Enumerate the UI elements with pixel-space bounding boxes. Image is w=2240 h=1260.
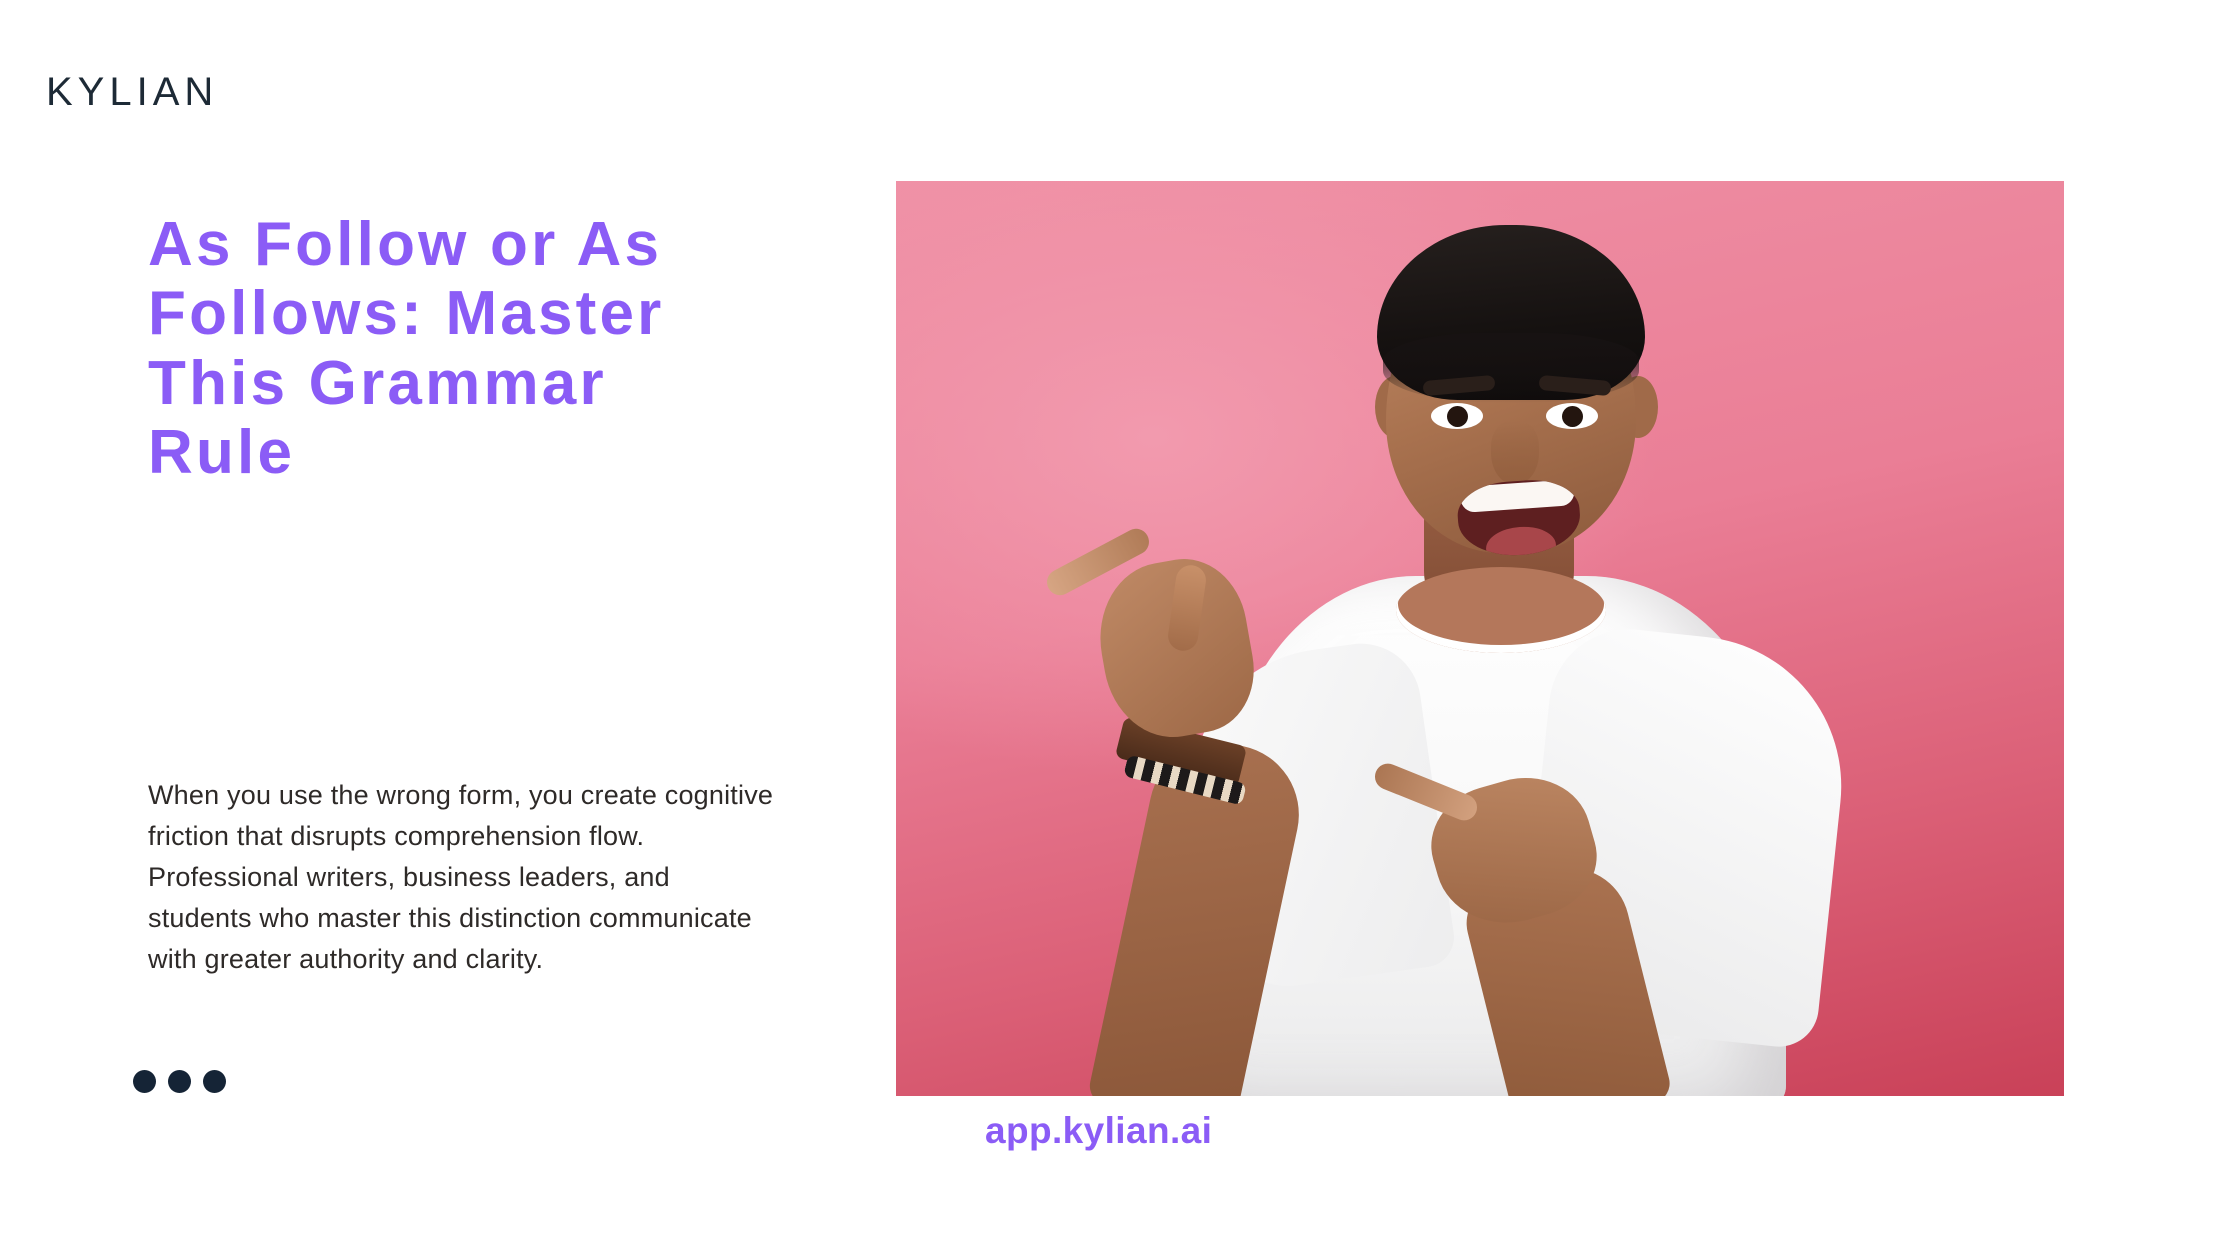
nose	[1491, 421, 1539, 485]
slide-canvas: KYLIAN As Follow or As Follows: Master T…	[0, 0, 2240, 1260]
left-content-column: As Follow or As Follows: Master This Gra…	[148, 210, 788, 488]
photo-subject	[896, 181, 2064, 1096]
dot-1	[133, 1070, 156, 1093]
page-title: As Follow or As Follows: Master This Gra…	[148, 210, 748, 488]
dot-decoration	[133, 1070, 226, 1093]
eye-right	[1546, 403, 1598, 429]
brand-logo: KYLIAN	[46, 72, 218, 112]
tshirt-collar	[1396, 567, 1606, 653]
eye-left	[1431, 403, 1483, 429]
body-paragraph: When you use the wrong form, you create …	[148, 775, 778, 980]
hair	[1377, 225, 1645, 400]
dot-3	[203, 1070, 226, 1093]
hero-photo	[896, 181, 2064, 1096]
dot-2	[168, 1070, 191, 1093]
footer-url[interactable]: app.kylian.ai	[985, 1110, 1212, 1152]
